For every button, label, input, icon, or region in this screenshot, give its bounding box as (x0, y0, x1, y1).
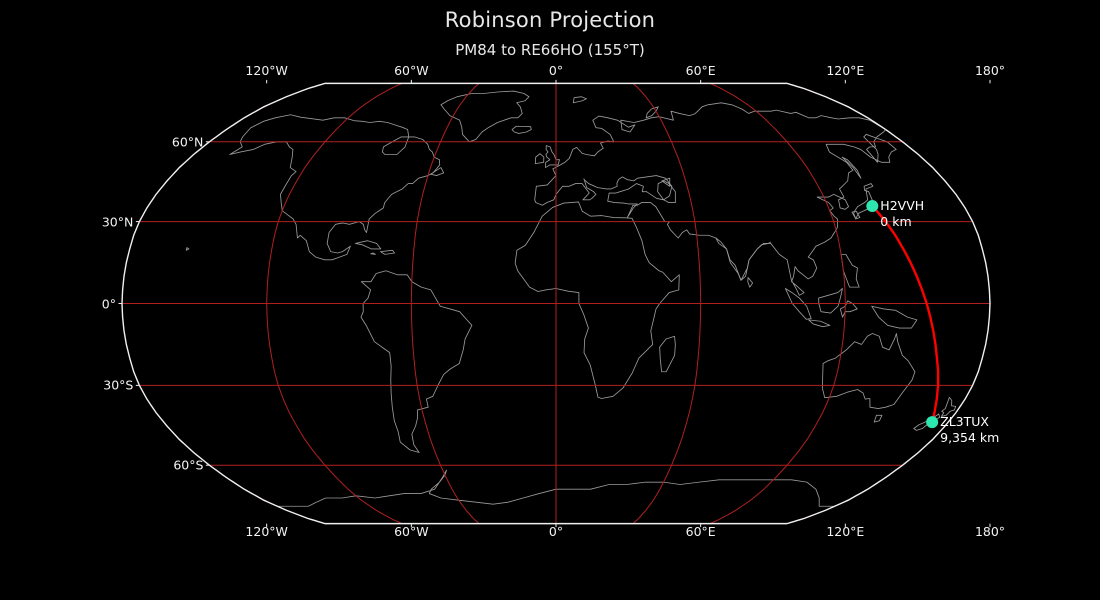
longitude-label-top-60W: 60°W (394, 63, 429, 78)
longitude-label-top-60E: 60°E (686, 63, 716, 78)
longitude-label-top-120W: 120°W (245, 63, 287, 78)
station-label-zl3tux: ZL3TUX9,354 km (940, 414, 999, 445)
map-figure: Robinson Projection PM84 to RE66HO (155°… (0, 0, 1100, 600)
longitude-label-top-120E: 120°E (826, 63, 864, 78)
latitude-label-60N: 60°N (172, 134, 204, 149)
longitude-label-bottom-180: 180° (975, 524, 1005, 539)
longitude-label-bottom-60E: 60°E (686, 524, 716, 539)
latitude-label-0: 0° (102, 296, 116, 311)
latitude-label-60S: 60°S (173, 458, 203, 473)
longitude-label-top-180: 180° (975, 63, 1005, 78)
latitude-label-30N: 30°N (102, 214, 134, 229)
longitude-label-bottom-0: 0° (549, 524, 563, 539)
station-marker-zl3tux[interactable] (926, 416, 938, 428)
map-body (119, 80, 991, 527)
longitude-label-bottom-60W: 60°W (394, 524, 429, 539)
station-label-h2vvh: H2VVH0 km (880, 198, 924, 229)
station-callsign: ZL3TUX (940, 414, 999, 430)
longitude-label-bottom-120W: 120°W (245, 524, 287, 539)
station-callsign: H2VVH (880, 198, 924, 214)
longitude-label-top-0: 0° (549, 63, 563, 78)
station-distance: 9,354 km (940, 430, 999, 446)
latitude-label-30S: 30°S (103, 378, 133, 393)
longitude-label-bottom-120E: 120°E (826, 524, 864, 539)
station-distance: 0 km (880, 214, 924, 230)
station-marker-h2vvh[interactable] (866, 200, 878, 212)
robinson-map-canvas (0, 0, 1100, 600)
